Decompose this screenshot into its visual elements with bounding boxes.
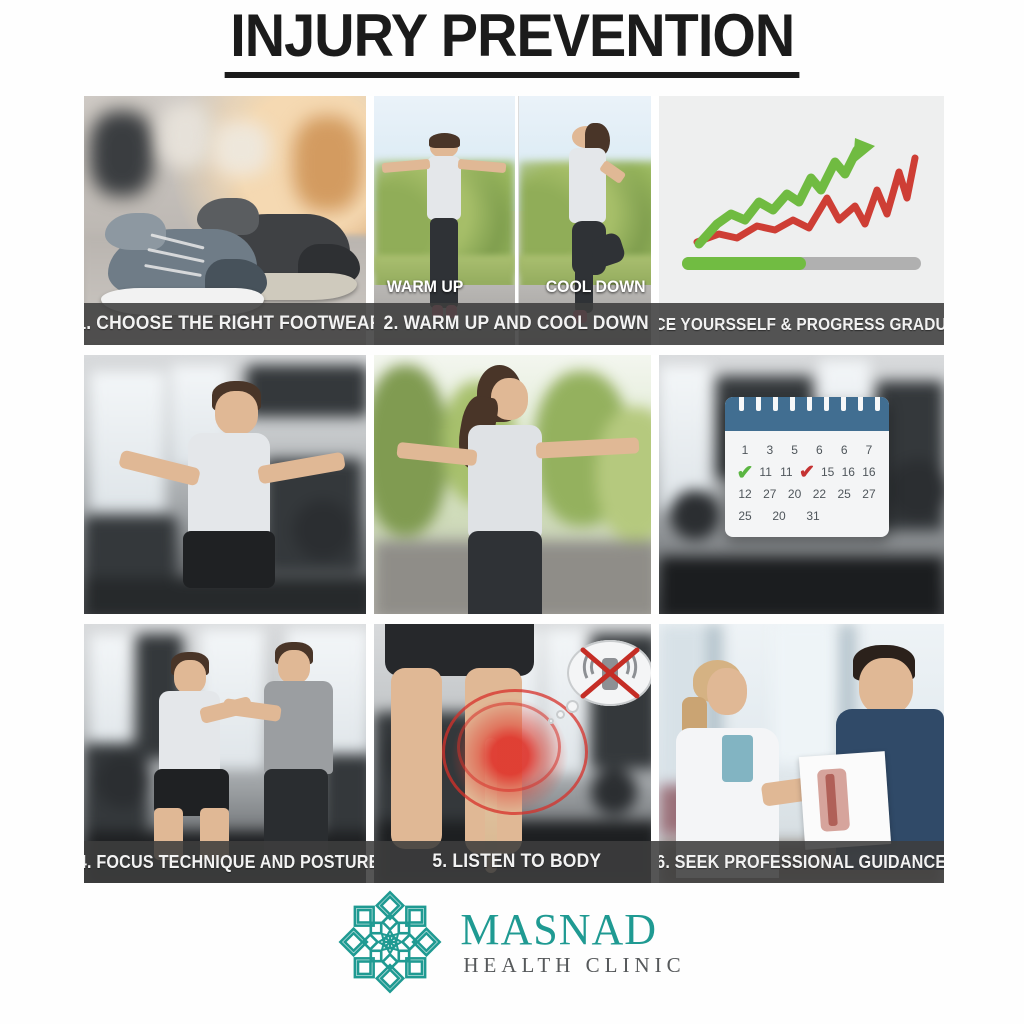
panel-caption: 4. FOCUS TECHNIQUE AND POSTURE: [84, 841, 374, 883]
logo-text: MASNAD HEALTH CLINIC: [460, 907, 685, 977]
red-progress-line: [697, 158, 915, 242]
man-stretching-photo: [84, 355, 374, 614]
progress-bar-track: [682, 257, 921, 270]
warm-up-label: WARM UP: [387, 277, 463, 297]
page-title: INJURY PREVENTION: [224, 4, 799, 78]
panel-seek-professional-guidance[interactable]: 6. SEEK PROFESSIONAL GUIDANCE: [659, 624, 944, 883]
calendar-cell: 25: [834, 487, 854, 501]
calendar-cell: 11: [776, 465, 796, 479]
calendar-row: 1 3 5 6 6 7: [735, 439, 879, 461]
mandala-star-icon: [338, 890, 442, 994]
panel-caption: 5. LISTEN TO BODY: [374, 841, 659, 883]
panel-focus-technique[interactable]: 4. FOCUS TECHNIQUE AND POSTURE: [84, 624, 374, 883]
crossed-out-alarm-icon: [567, 640, 653, 706]
calendar-cell: 15: [818, 465, 838, 479]
logo-subtitle: HEALTH CLINIC: [460, 953, 685, 977]
calendar-cell: 1: [735, 443, 755, 457]
panel-caption: 6. SEEK PROFESSIONAL GUIDANCE: [659, 841, 944, 883]
calendar-cell: 3: [760, 443, 780, 457]
calendar-cell: 27: [859, 487, 879, 501]
panel-woman-stretching[interactable]: [374, 355, 659, 614]
calendar-cell: 27: [760, 487, 780, 501]
green-check-icon: ✔: [735, 460, 755, 485]
calendar-cell: 20: [785, 487, 805, 501]
cool-down-label: COOL DOWN: [545, 277, 645, 297]
calendar-cell: 6: [809, 443, 829, 457]
green-arrow-head: [853, 138, 875, 164]
calendar-cell: 16: [859, 465, 879, 479]
panel-calendar[interactable]: 1 3 5 6 6 7 ✔ 11 11 ✔ 15: [659, 355, 944, 614]
progress-bar-fill: [682, 257, 806, 270]
logo-name: MASNAD: [460, 907, 685, 953]
panel-caption: 3. PACE YOURSSELF & PROGRESS GRADUALLY: [659, 303, 944, 345]
panel-listen-to-body[interactable]: 5. LISTEN TO BODY: [374, 624, 659, 883]
calendar-cell: 7: [859, 443, 879, 457]
calendar-row: 12 27 20 22 25 27: [735, 483, 879, 505]
calendar-cell: 31: [803, 509, 823, 523]
calendar-row: ✔ 11 11 ✔ 15 16 16: [735, 461, 879, 483]
panel-caption: 2. WARM UP AND COOL DOWN: [374, 303, 659, 345]
woman-stretching-photo: [374, 355, 659, 614]
panel-grid: 1. CHOOSE THE RIGHT FOOTWEAR: [84, 96, 944, 876]
calendar-cell: 16: [838, 465, 858, 479]
panel-warm-up-cool-down[interactable]: WARM UP COOL DOWN 2. WARM UP AND COOL DO…: [374, 96, 659, 345]
panel-caption: 1. CHOOSE THE RIGHT FOOTWEAR: [84, 303, 374, 345]
calendar-row: 25 20 31: [735, 505, 879, 527]
panel-choose-right-footwear[interactable]: 1. CHOOSE THE RIGHT FOOTWEAR: [84, 96, 374, 345]
poster-title-area: INJURY PREVENTION: [0, 4, 1024, 78]
panel-pace-yourself[interactable]: 3. PACE YOURSSELF & PROGRESS GRADUALLY: [659, 96, 944, 345]
calendar-cell: 12: [735, 487, 755, 501]
calendar-cell: 6: [834, 443, 854, 457]
calendar-cell: 25: [735, 509, 755, 523]
calendar-cell: 20: [769, 509, 789, 523]
red-check-icon: ✔: [797, 461, 817, 484]
calendar-cell: 22: [809, 487, 829, 501]
calendar-cell: 5: [785, 443, 805, 457]
calendar-cell: 11: [756, 465, 776, 479]
brand-logo: MASNAD HEALTH CLINIC: [0, 890, 1024, 994]
calendar-photo: 1 3 5 6 6 7 ✔ 11 11 ✔ 15: [659, 355, 944, 614]
injury-prevention-poster: INJURY PREVENTION: [0, 0, 1024, 1024]
calendar-icon: 1 3 5 6 6 7 ✔ 11 11 ✔ 15: [725, 397, 889, 537]
panel-man-stretching[interactable]: [84, 355, 374, 614]
progress-chart-svg: [659, 102, 944, 312]
